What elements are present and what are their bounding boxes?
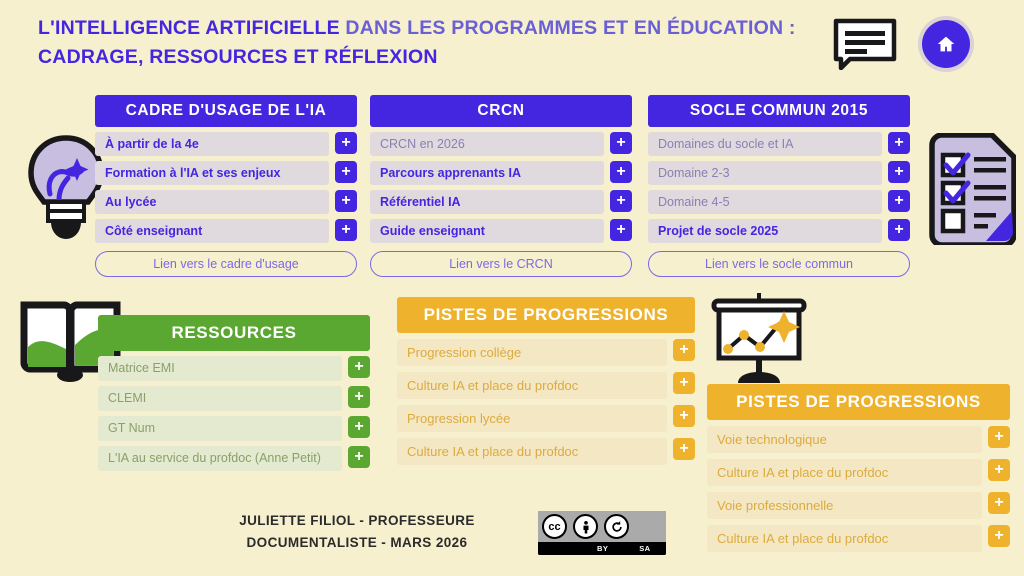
panel-cadre-usage: CADRE D'USAGE DE L'IA À partir de la 4e … — [95, 95, 357, 277]
list-item[interactable]: Voie technologique + — [707, 426, 1010, 453]
list-item[interactable]: L'IA au service du profdoc (Anne Petit) … — [98, 446, 370, 471]
list-item-label: Côté enseignant — [95, 219, 329, 243]
speech-bubble-icon — [833, 18, 897, 70]
list-item[interactable]: À partir de la 4e + — [95, 132, 357, 156]
page-title-rest: DANS LES PROGRAMMES ET EN ÉDUCATION : — [340, 17, 796, 39]
cc-by-label: BY — [582, 544, 624, 553]
expand-plus-button[interactable]: + — [348, 416, 370, 438]
expand-plus-button[interactable]: + — [610, 219, 632, 241]
list-item-label: À partir de la 4e — [95, 132, 329, 156]
panel-pistes-progressions-middle: PISTES DE PROGRESSIONS Progression collè… — [397, 297, 695, 465]
link-crcn[interactable]: Lien vers le CRCN — [370, 251, 632, 277]
list-item-label: CRCN en 2026 — [370, 132, 604, 156]
cc-sa-label: SA — [624, 544, 666, 553]
expand-plus-button[interactable]: + — [673, 372, 695, 394]
list-item-label: Domaines du socle et IA — [648, 132, 882, 156]
list-item[interactable]: Domaines du socle et IA + — [648, 132, 910, 156]
list-item-label: Culture IA et place du profdoc — [707, 459, 982, 486]
creative-commons-badge: cc BY SA — [538, 511, 666, 555]
cc-badge-icons: cc — [538, 511, 666, 542]
panel-cadre-usage-header: CADRE D'USAGE DE L'IA — [95, 95, 357, 127]
page-title-line-1: L'INTELLIGENCE ARTIFICIELLE DANS LES PRO… — [38, 14, 828, 43]
list-item-label: Domaine 2-3 — [648, 161, 882, 185]
panel-socle-commun: SOCLE COMMUN 2015 Domaines du socle et I… — [648, 95, 910, 277]
expand-plus-button[interactable]: + — [888, 219, 910, 241]
list-item[interactable]: Côté enseignant + — [95, 219, 357, 243]
list-item[interactable]: Culture IA et place du profdoc + — [707, 459, 1010, 486]
author-credit-line-2: DOCUMENTALISTE - MARS 2026 — [222, 532, 492, 554]
expand-plus-button[interactable]: + — [673, 405, 695, 427]
expand-plus-button[interactable]: + — [610, 190, 632, 212]
list-item-label: Voie technologique — [707, 426, 982, 453]
list-item[interactable]: CRCN en 2026 + — [370, 132, 632, 156]
panel-socle-commun-header: SOCLE COMMUN 2015 — [648, 95, 910, 127]
cc-sa-icon — [604, 514, 629, 539]
link-socle-commun[interactable]: Lien vers le socle commun — [648, 251, 910, 277]
expand-plus-button[interactable]: + — [335, 132, 357, 154]
expand-plus-button[interactable]: + — [348, 386, 370, 408]
list-item-label: Formation à l'IA et ses enjeux — [95, 161, 329, 185]
list-item-label: CLEMI — [98, 386, 342, 411]
list-item-label: Guide enseignant — [370, 219, 604, 243]
expand-plus-button[interactable]: + — [988, 426, 1010, 448]
list-item[interactable]: Référentiel IA + — [370, 190, 632, 214]
list-item[interactable]: Voie professionnelle + — [707, 492, 1010, 519]
list-item-label: Progression collège — [397, 339, 667, 366]
panel-pistes-middle-header: PISTES DE PROGRESSIONS — [397, 297, 695, 333]
list-item[interactable]: Matrice EMI + — [98, 356, 370, 381]
page-title-line-2: CADRAGE, RESSOURCES ET RÉFLEXION — [38, 43, 828, 72]
home-button[interactable] — [922, 20, 970, 68]
expand-plus-button[interactable]: + — [610, 161, 632, 183]
panel-ressources: RESSOURCES Matrice EMI + CLEMI + GT Num … — [98, 315, 370, 471]
list-item[interactable]: Culture IA et place du profdoc + — [397, 372, 695, 399]
list-item-label: Culture IA et place du profdoc — [397, 372, 667, 399]
list-item[interactable]: Formation à l'IA et ses enjeux + — [95, 161, 357, 185]
page-title: L'INTELLIGENCE ARTIFICIELLE DANS LES PRO… — [38, 14, 828, 72]
expand-plus-button[interactable]: + — [673, 339, 695, 361]
list-item[interactable]: Au lycée + — [95, 190, 357, 214]
list-item[interactable]: Parcours apprenants IA + — [370, 161, 632, 185]
list-item[interactable]: Guide enseignant + — [370, 219, 632, 243]
cc-logo-icon: cc — [542, 514, 567, 539]
list-item-label: Culture IA et place du profdoc — [707, 525, 982, 552]
presentation-chart-icon — [706, 293, 812, 388]
list-item-label: L'IA au service du profdoc (Anne Petit) — [98, 446, 342, 471]
list-item-label: Au lycée — [95, 190, 329, 214]
panel-pistes-right-header: PISTES DE PROGRESSIONS — [707, 384, 1010, 420]
list-item[interactable]: Domaine 4-5 + — [648, 190, 910, 214]
list-item-label: Projet de socle 2025 — [648, 219, 882, 243]
list-item-label: Culture IA et place du profdoc — [397, 438, 667, 465]
list-item[interactable]: Domaine 2-3 + — [648, 161, 910, 185]
list-item[interactable]: Culture IA et place du profdoc + — [397, 438, 695, 465]
link-cadre-usage[interactable]: Lien vers le cadre d'usage — [95, 251, 357, 277]
list-item-label: Progression lycée — [397, 405, 667, 432]
author-credit-line-1: JULIETTE FILIOL - PROFESSEURE — [222, 510, 492, 532]
expand-plus-button[interactable]: + — [673, 438, 695, 460]
expand-plus-button[interactable]: + — [988, 525, 1010, 547]
expand-plus-button[interactable]: + — [888, 161, 910, 183]
panel-pistes-progressions-right: PISTES DE PROGRESSIONS Voie technologiqu… — [707, 384, 1010, 552]
list-item[interactable]: Progression lycée + — [397, 405, 695, 432]
infographic-page: L'INTELLIGENCE ARTIFICIELLE DANS LES PRO… — [0, 0, 1024, 576]
list-item[interactable]: CLEMI + — [98, 386, 370, 411]
expand-plus-button[interactable]: + — [988, 459, 1010, 481]
expand-plus-button[interactable]: + — [335, 161, 357, 183]
home-icon — [935, 33, 957, 55]
cc-by-icon — [573, 514, 598, 539]
list-item-label: GT Num — [98, 416, 342, 441]
list-item[interactable]: GT Num + — [98, 416, 370, 441]
expand-plus-button[interactable]: + — [335, 219, 357, 241]
expand-plus-button[interactable]: + — [610, 132, 632, 154]
list-item-label: Référentiel IA — [370, 190, 604, 214]
list-item-label: Voie professionnelle — [707, 492, 982, 519]
cc-badge-labels: BY SA — [538, 542, 666, 555]
list-item[interactable]: Progression collège + — [397, 339, 695, 366]
expand-plus-button[interactable]: + — [988, 492, 1010, 514]
list-item-label: Domaine 4-5 — [648, 190, 882, 214]
expand-plus-button[interactable]: + — [348, 356, 370, 378]
panel-crcn: CRCN CRCN en 2026 + Parcours apprenants … — [370, 95, 632, 277]
author-credit: JULIETTE FILIOL - PROFESSEURE DOCUMENTAL… — [222, 510, 492, 554]
expand-plus-button[interactable]: + — [348, 446, 370, 468]
expand-plus-button[interactable]: + — [888, 132, 910, 154]
panel-ressources-header: RESSOURCES — [98, 315, 370, 351]
list-item[interactable]: Culture IA et place du profdoc + — [707, 525, 1010, 552]
list-item-label: Parcours apprenants IA — [370, 161, 604, 185]
expand-plus-button[interactable]: + — [335, 190, 357, 212]
expand-plus-button[interactable]: + — [888, 190, 910, 212]
checklist-document-icon — [924, 133, 1016, 245]
panel-crcn-header: CRCN — [370, 95, 632, 127]
list-item-label: Matrice EMI — [98, 356, 342, 381]
list-item[interactable]: Projet de socle 2025 + — [648, 219, 910, 243]
page-title-emphasis: L'INTELLIGENCE ARTIFICIELLE — [38, 17, 340, 39]
